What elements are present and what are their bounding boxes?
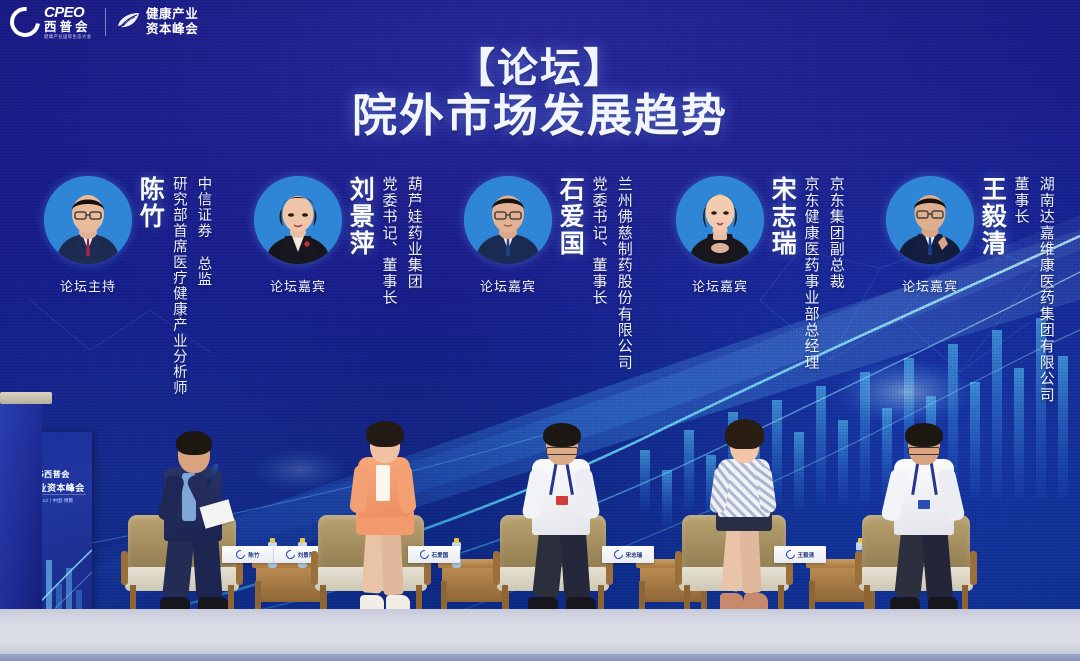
summit-logo-line1: 健康产业 <box>146 7 198 22</box>
panelist-name: 王毅清 <box>979 176 1005 257</box>
chair-arm <box>675 551 682 585</box>
cpeo-logo-en: CPEO <box>44 5 94 20</box>
badge <box>918 500 930 509</box>
badge <box>556 496 568 505</box>
placard-name: 王毅清 <box>798 551 815 559</box>
person-panelist-5 <box>878 423 982 613</box>
leg <box>380 525 404 596</box>
panelist-title-col1: 研究部首席医疗健康产业分析师 <box>168 176 188 396</box>
placard-logo-icon <box>418 548 431 561</box>
panelist-name: 刘景萍 <box>347 176 373 257</box>
hair <box>725 419 764 449</box>
placard-logo-icon <box>284 548 297 561</box>
hair <box>905 423 943 447</box>
name-placard: 宋志瑞 <box>602 546 654 563</box>
table-leg <box>441 581 447 611</box>
panelist-title-col2: 兰州佛慈制药股份有限公司 <box>614 176 634 370</box>
panelist-role: 论坛主持 <box>44 276 132 295</box>
panelist-title-col2: 京东集团副总裁 <box>826 176 846 289</box>
forum-title-line1: 【论坛】 <box>0 46 1080 90</box>
cpeo-ring-icon <box>4 1 46 43</box>
panelist-title-col1: 京东健康医药事业部总经理 <box>800 176 820 370</box>
panelist-title-col2: 葫芦娃药业集团 <box>404 176 424 289</box>
panelist-title-col2: 中信证券 总监 <box>193 176 213 287</box>
panelist-role: 论坛嘉宾 <box>254 276 342 295</box>
hair <box>366 421 404 447</box>
chair-arm <box>311 551 318 585</box>
logo-divider <box>105 8 106 36</box>
placard-name: 石爱国 <box>432 551 449 559</box>
table-leg <box>809 581 815 611</box>
leg <box>921 524 953 600</box>
table-leg <box>639 581 645 611</box>
panelist-role: 论坛嘉宾 <box>886 276 974 295</box>
panelist-name: 石爱国 <box>557 176 583 257</box>
chair-arm <box>121 551 128 585</box>
summit-logo-line2: 资本峰会 <box>146 22 198 37</box>
cpeo-logo-subtitle: 健康产业国际生态大会 <box>44 34 91 39</box>
glasses-icon <box>546 447 578 455</box>
stage-edge <box>0 654 1080 661</box>
person-panelist-4 <box>698 423 794 613</box>
hair <box>176 431 212 455</box>
avatar <box>464 176 552 264</box>
panelist-name: 宋志瑞 <box>769 176 795 257</box>
table-leg <box>255 581 261 611</box>
panelist-title-col1: 党委书记、董事长 <box>588 176 608 306</box>
portrait-shiaiguo <box>464 176 552 264</box>
leg <box>559 524 590 600</box>
event-logo-bar: CPEO 西普会 健康产业国际生态大会 健康产业 资本峰会 <box>0 0 290 44</box>
person-moderator <box>150 423 258 613</box>
portrait-liujingping <box>254 176 342 264</box>
podium-top-surface <box>0 392 52 404</box>
placard-logo-icon <box>235 548 248 561</box>
forum-title-line2: 院外市场发展趋势 <box>0 91 1080 141</box>
blouse <box>376 465 390 501</box>
capital-summit-logo: 健康产业 资本峰会 <box>117 1 198 43</box>
panelist-role: 论坛嘉宾 <box>464 276 552 295</box>
placard-logo-icon <box>612 548 625 561</box>
name-placard: 石爱国 <box>408 546 460 563</box>
placard-name: 宋志瑞 <box>626 551 643 559</box>
forum-title-block: 【论坛】 院外市场发展趋势 <box>0 46 1080 142</box>
name-placard: 陈竹 <box>222 546 274 563</box>
panelist-title-col1: 党委书记、董事长 <box>378 176 398 306</box>
chair-arm <box>493 551 500 585</box>
cpeo-logo: CPEO 西普会 健康产业国际生态大会 <box>0 1 94 43</box>
glasses-icon <box>908 447 940 455</box>
cpeo-logo-cn: 西普会 <box>44 20 94 34</box>
name-placard: 王毅清 <box>774 546 826 563</box>
portrait-chenzhu <box>44 176 132 264</box>
avatar <box>254 176 342 264</box>
avatar <box>44 176 132 264</box>
placard-logo-icon <box>784 548 797 561</box>
portrait-wangyiqing <box>886 176 974 264</box>
stage-seating-row: 陈竹 刘景萍 石爱国 <box>0 396 1080 621</box>
person-panelist-3 <box>516 423 620 613</box>
panelist-title-col1: 董事长 <box>1010 176 1030 225</box>
panelist-title-col2: 湖南达嘉维康医药集团有限公司 <box>1036 176 1056 403</box>
portrait-songzhirui <box>676 176 764 264</box>
avatar <box>676 176 764 264</box>
panelist-name: 陈竹 <box>137 176 163 230</box>
panelist-role: 论坛嘉宾 <box>676 276 764 295</box>
avatar <box>886 176 974 264</box>
person-panelist-2 <box>338 423 434 613</box>
hair <box>543 423 581 447</box>
placard-name: 陈竹 <box>248 551 259 559</box>
chair-arm <box>855 551 862 585</box>
leg <box>739 525 762 594</box>
leaf-icon <box>117 12 141 33</box>
